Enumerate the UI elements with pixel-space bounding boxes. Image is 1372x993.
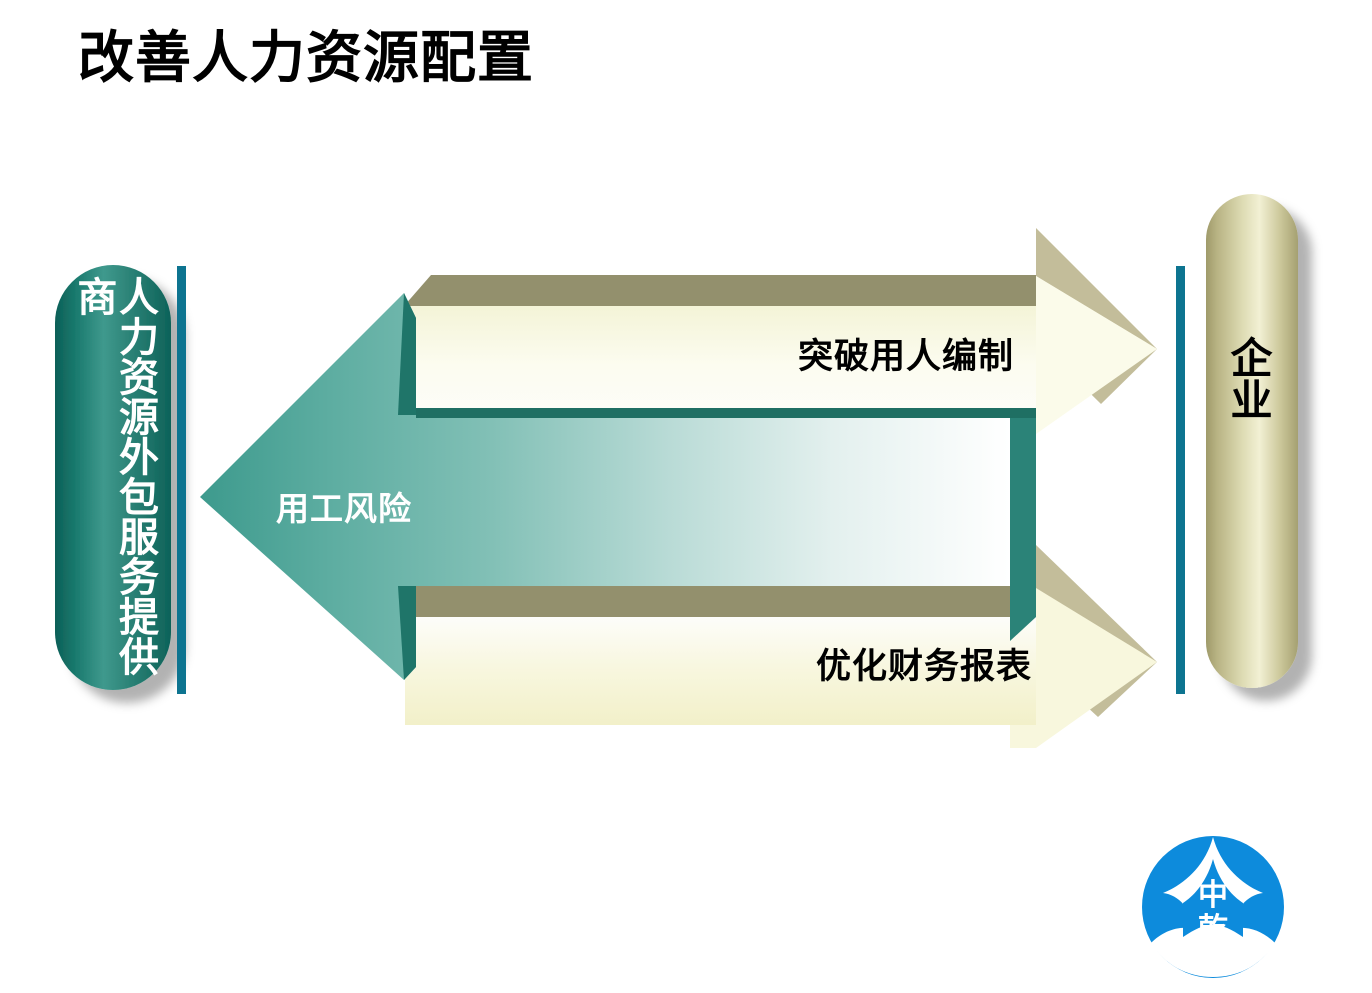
source-pill-shape[interactable] [55,265,171,690]
slide-canvas: 改善人力资源配置 [0,0,1372,993]
node-target-pill[interactable] [1206,194,1298,688]
arrow-bottom-tail-notch [1010,725,1036,748]
arrow-top-bevel-strip [404,275,1036,306]
arrow-top-body [404,306,1036,415]
logo-text-bottom: 乾 [1198,912,1228,947]
target-pill-shape[interactable] [1206,194,1298,688]
arrow-rightward-top [404,228,1157,436]
logo-text-top: 中 [1198,878,1228,913]
arrow-bottom-bevel-strip [405,586,1036,617]
arrow-left-side-face [1010,415,1036,641]
company-logo[interactable]: 中 乾 [1139,833,1287,981]
left-vertical-rule [177,266,186,694]
right-vertical-rule [1176,266,1185,694]
arrow-bottom-body [405,617,1036,725]
node-source-pill[interactable] [55,265,171,690]
arrow-left-upper-rule [416,408,1036,418]
